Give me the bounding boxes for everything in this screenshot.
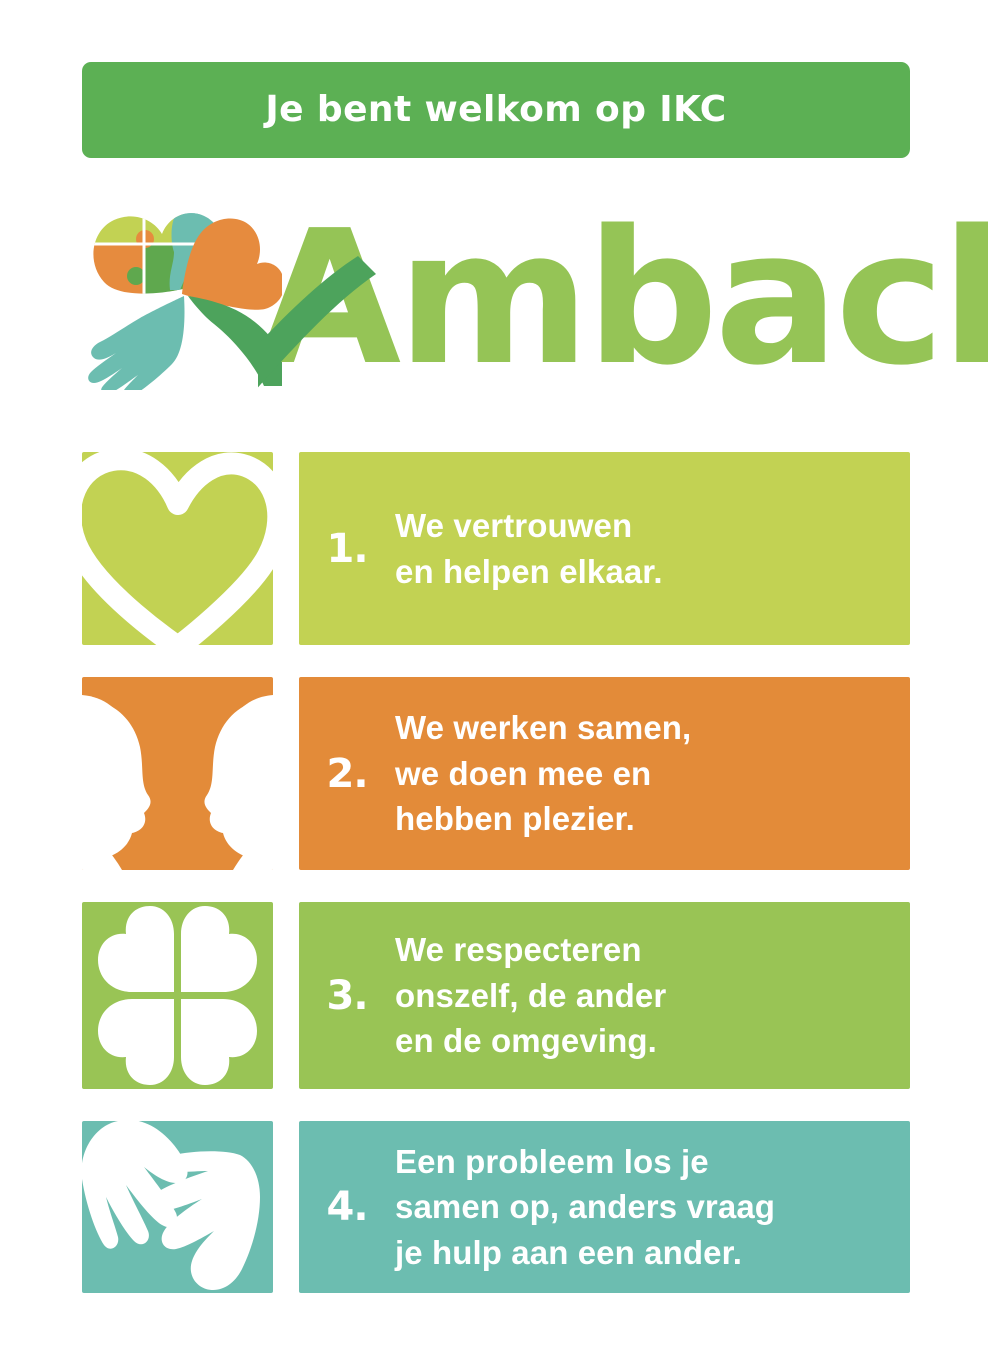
rules-list: 1. We vertrouwen en helpen elkaar. bbox=[82, 452, 910, 1325]
logo-wordmark-text: Ambacht bbox=[258, 212, 988, 402]
rule-row: 3. We respecteren onszelf, de ander en d… bbox=[82, 902, 910, 1089]
four-leaf-clover-icon bbox=[82, 902, 273, 1089]
logo-wordmark: Ambacht Ambacht bbox=[258, 212, 988, 402]
rule-row: 1. We vertrouwen en helpen elkaar. bbox=[82, 452, 910, 645]
two-hands-icon bbox=[82, 1121, 273, 1293]
rule-number: 4. bbox=[299, 1187, 395, 1227]
rule-panel-2: 2. We werken samen, we doen mee en hebbe… bbox=[299, 677, 910, 870]
rule-icon-tile-2 bbox=[82, 677, 273, 870]
rule-row: 2. We werken samen, we doen mee en hebbe… bbox=[82, 677, 910, 870]
page-title: Je bent welkom op IKC bbox=[265, 92, 726, 128]
rule-text-line: je hulp aan een ander. bbox=[395, 1230, 890, 1276]
rule-text-line: we doen mee en bbox=[395, 751, 890, 797]
teal-hand-petal bbox=[88, 296, 184, 390]
header-banner: Je bent welkom op IKC bbox=[82, 62, 910, 158]
rule-icon-tile-4 bbox=[82, 1121, 273, 1293]
poster: Je bent welkom op IKC bbox=[0, 0, 988, 1358]
rule-text-line: We werken samen, bbox=[395, 705, 890, 751]
rule-text: We vertrouwen en helpen elkaar. bbox=[395, 503, 890, 594]
ambacht-flower-logo-icon bbox=[82, 190, 282, 390]
rule-text-line: Een probleem los je bbox=[395, 1139, 890, 1185]
rule-text-line: We vertrouwen bbox=[395, 503, 890, 549]
rule-text: We werken samen, we doen mee en hebben p… bbox=[395, 705, 890, 842]
rule-row: 4. Een probleem los je samen op, anders … bbox=[82, 1121, 910, 1293]
rule-panel-1: 1. We vertrouwen en helpen elkaar. bbox=[299, 452, 910, 645]
rule-icon-tile-1 bbox=[82, 452, 273, 645]
two-faces-vase-icon bbox=[82, 677, 273, 870]
rule-text-line: We respecteren bbox=[395, 927, 890, 973]
rule-text-line: en de omgeving. bbox=[395, 1018, 890, 1064]
logo: Ambacht Ambacht bbox=[82, 190, 912, 400]
heart-outline-icon bbox=[82, 452, 273, 645]
rule-text-line: onszelf, de ander bbox=[395, 973, 890, 1019]
rule-panel-4: 4. Een probleem los je samen op, anders … bbox=[299, 1121, 910, 1293]
rule-number: 2. bbox=[299, 754, 395, 794]
rule-text-line: hebben plezier. bbox=[395, 796, 890, 842]
rule-panel-3: 3. We respecteren onszelf, de ander en d… bbox=[299, 902, 910, 1089]
rule-number: 3. bbox=[299, 976, 395, 1016]
rule-text: We respecteren onszelf, de ander en de o… bbox=[395, 927, 890, 1064]
rule-icon-tile-3 bbox=[82, 902, 273, 1089]
rule-text-line: en helpen elkaar. bbox=[395, 549, 890, 595]
rule-number: 1. bbox=[299, 529, 395, 569]
rule-text: Een probleem los je samen op, anders vra… bbox=[395, 1139, 890, 1276]
rule-text-line: samen op, anders vraag bbox=[395, 1184, 890, 1230]
